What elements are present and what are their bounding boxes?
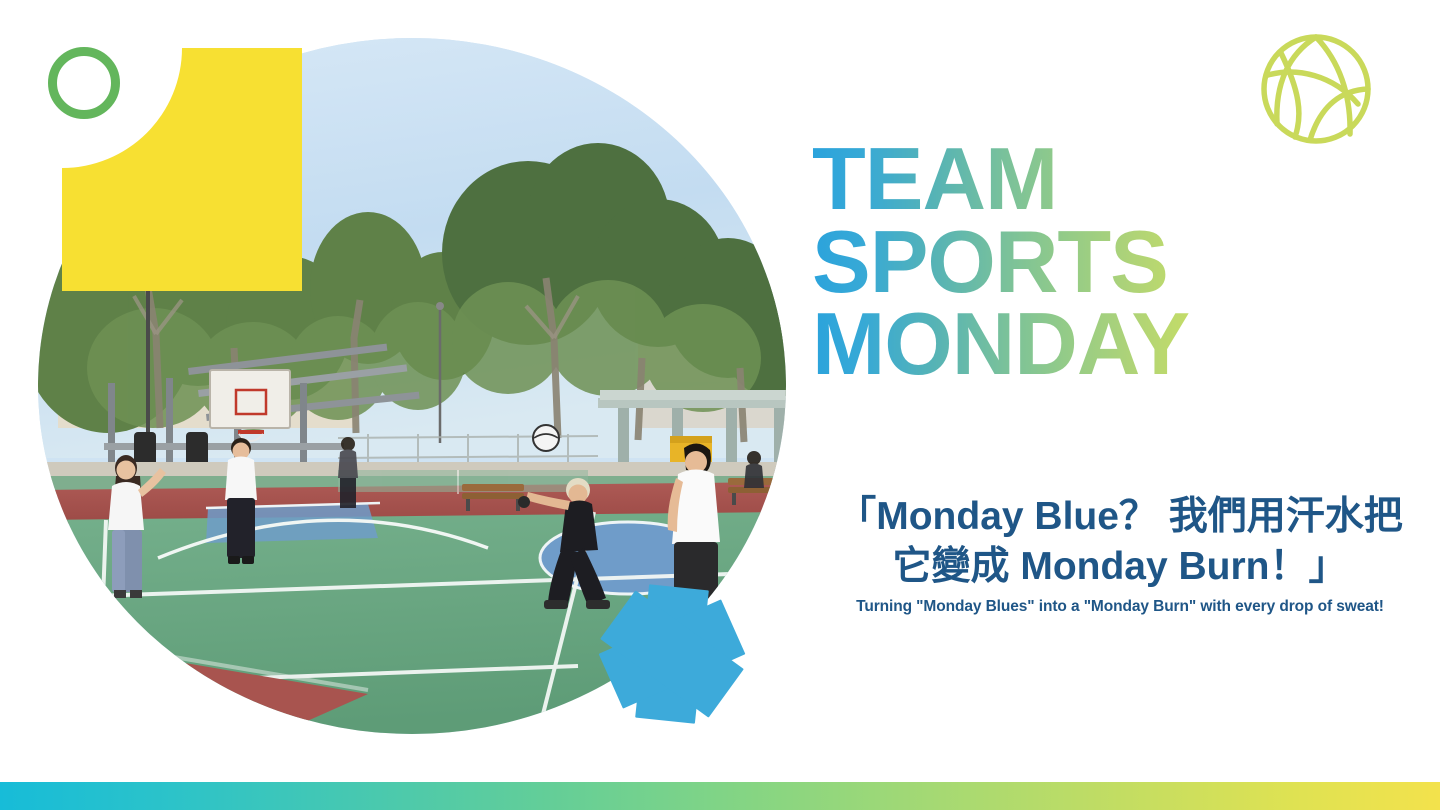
headline-line-2: SPORTS: [812, 221, 1332, 304]
tagline-line-1: 「Monday Blue？ 我們用汗水把: [800, 492, 1440, 542]
poster-canvas: TEAM SPORTS MONDAY 「Monday Blue？ 我們用汗水把 …: [0, 0, 1440, 810]
headline-line-1: TEAM: [812, 138, 1332, 221]
bottom-gradient-bar: [0, 782, 1440, 810]
tagline-line-2: 它變成 Monday Burn！」: [800, 542, 1440, 592]
headline-line-3: MONDAY: [812, 303, 1332, 386]
ring-circle-icon: [48, 47, 120, 119]
asterisk-star-icon: [592, 583, 750, 725]
text-panel: TEAM SPORTS MONDAY 「Monday Blue？ 我們用汗水把 …: [800, 0, 1440, 810]
page-title: TEAM SPORTS MONDAY: [812, 138, 1332, 386]
volleyball-icon: [1255, 28, 1377, 150]
tagline: 「Monday Blue？ 我們用汗水把 它變成 Monday Burn！」: [800, 492, 1440, 592]
sub-tagline: Turning "Monday Blues" into a "Monday Bu…: [800, 598, 1440, 616]
